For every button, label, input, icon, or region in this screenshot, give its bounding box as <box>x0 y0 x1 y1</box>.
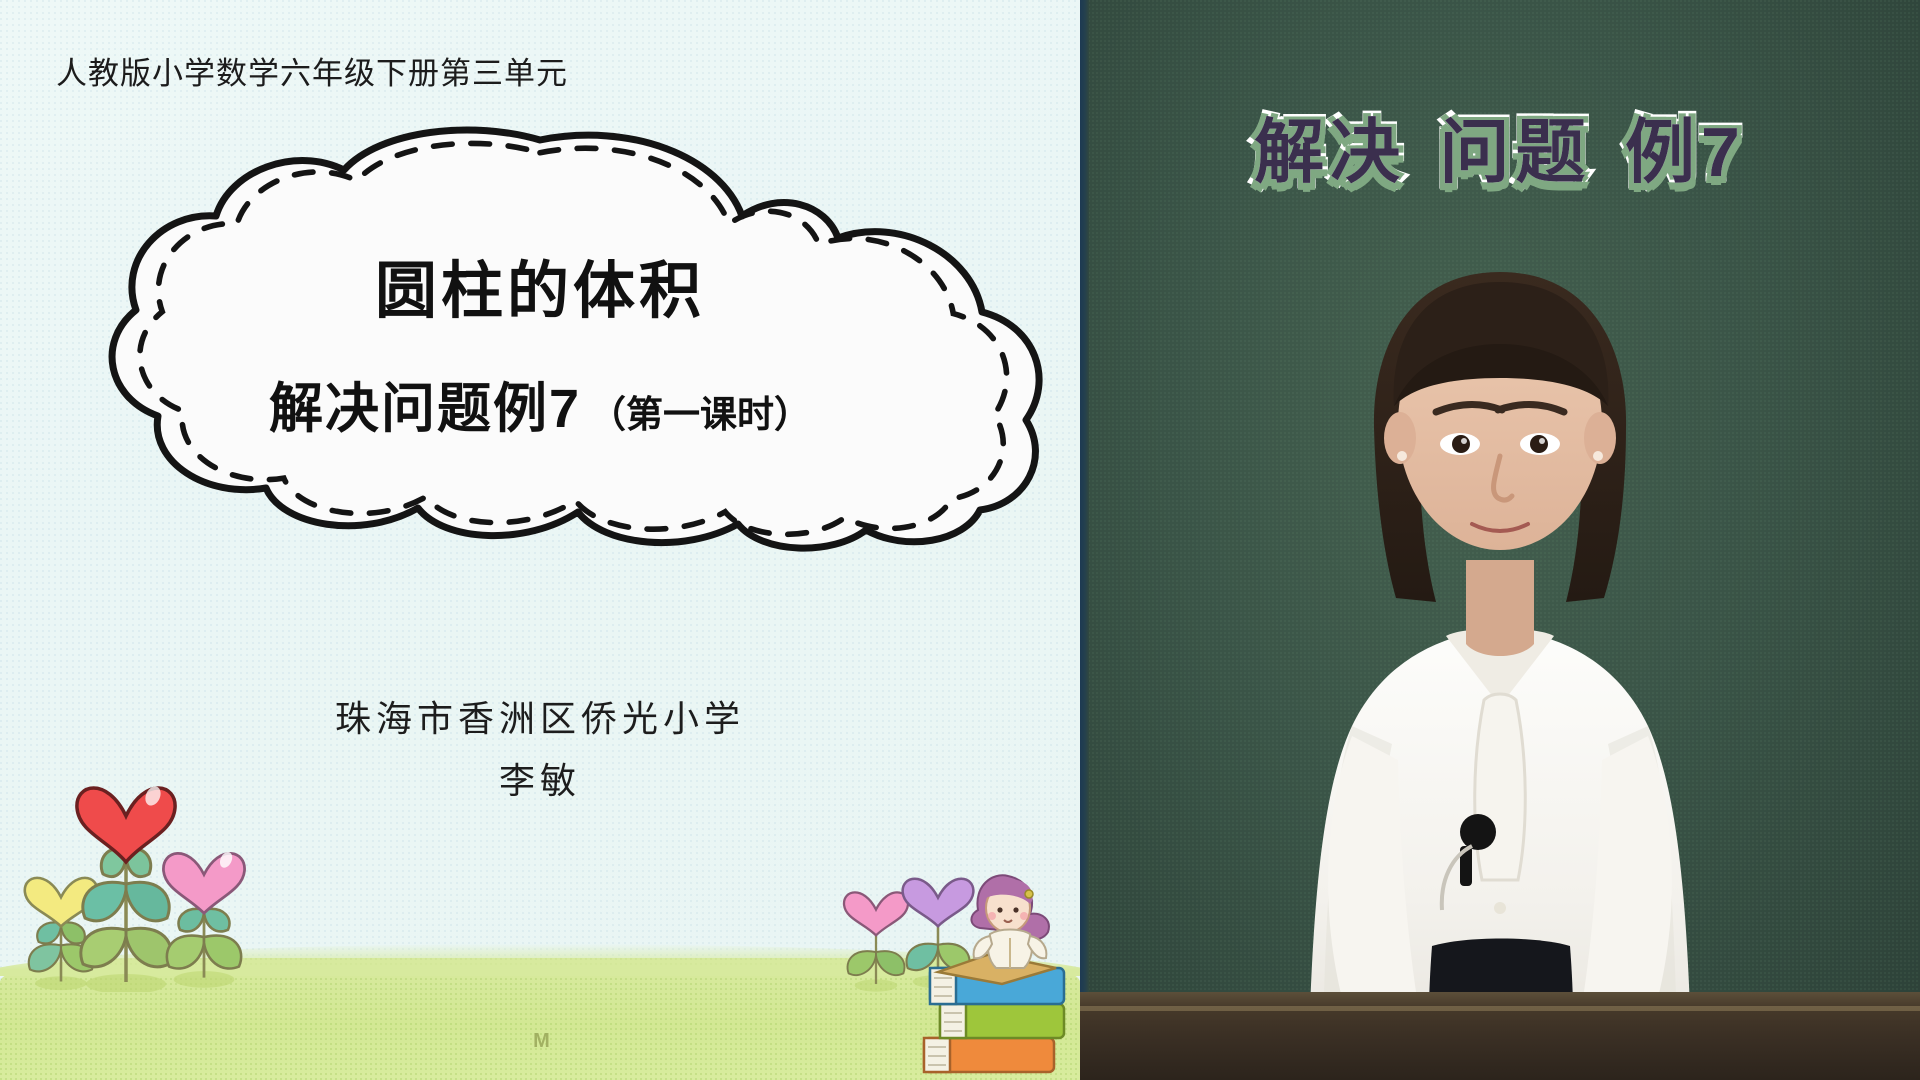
girl-on-books-decoration <box>916 850 1066 1080</box>
teacher-presenter-figure <box>1080 0 1920 1080</box>
screenshot-root: 人教版小学数学六年级下册第三单元 圆柱的体积 解决问题例7 （第一课时） 珠海市… <box>0 0 1920 1080</box>
teacher-video-panel: 解决 问题 例7 <box>1080 0 1920 1080</box>
slide-header-text: 人教版小学数学六年级下册第三单元 <box>56 48 568 93</box>
heart-flower-pink <box>158 816 250 992</box>
school-name: 珠海市香洲区侨光小学 <box>0 690 1080 742</box>
cloud-callout <box>20 112 1060 552</box>
chalkboard-ledge <box>1080 992 1920 1080</box>
lesson-slide-panel: 人教版小学数学六年级下册第三单元 圆柱的体积 解决问题例7 （第一课时） 珠海市… <box>0 0 1080 1080</box>
